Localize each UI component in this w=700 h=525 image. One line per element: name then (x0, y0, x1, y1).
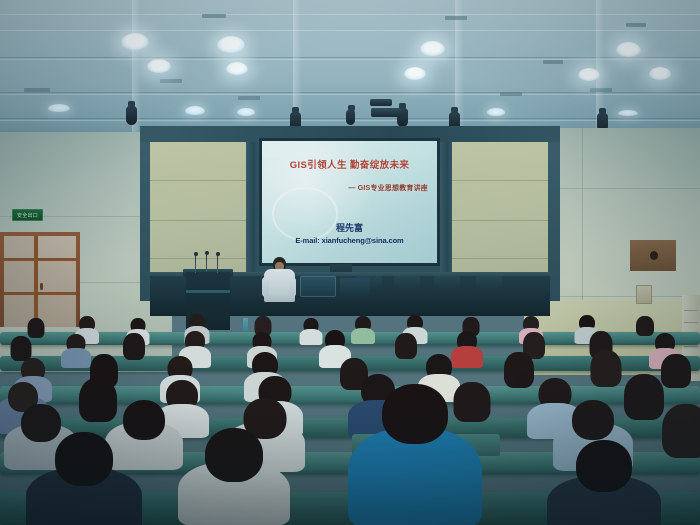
lighting-rig (370, 99, 392, 106)
audience-member (300, 318, 322, 340)
ceiling-light (404, 67, 426, 80)
ceiling-light (618, 110, 638, 116)
water-bottle (243, 318, 248, 332)
lectern-trim (186, 290, 230, 293)
door-right-leaf[interactable] (38, 236, 76, 327)
audience-member (120, 333, 148, 364)
ceiling-light (578, 68, 600, 81)
lighting-rig (371, 108, 401, 117)
ceiling-light (147, 59, 171, 73)
ceiling-light (226, 62, 248, 75)
stage-chair (434, 276, 460, 292)
door-handle[interactable] (40, 283, 43, 290)
front-wall-panel-left (150, 142, 246, 290)
audience-member (36, 432, 132, 525)
stage-chair (476, 276, 502, 292)
ceiling-light (420, 41, 445, 56)
front-wall-pillar-left (246, 138, 259, 290)
door-left-leaf[interactable] (4, 236, 34, 327)
microphone-icon (206, 254, 207, 272)
ceiling-light (217, 36, 245, 53)
microphone-icon (195, 255, 196, 273)
ceiling-light (48, 104, 70, 112)
ceiling-light (121, 33, 149, 50)
ceiling-light (185, 106, 205, 115)
ceiling-light (237, 108, 255, 116)
front-wall-panel-right (452, 142, 548, 290)
wall-switch-plate (636, 285, 652, 304)
exit-sign: 安全出口 (12, 209, 43, 221)
audience-member (656, 404, 700, 464)
slide-presenter-email: E-mail: xianfucheng@sina.com (262, 236, 437, 245)
audience-member (392, 333, 420, 364)
audience-member (188, 428, 280, 520)
exit-sign-label: 安全出口 (17, 212, 38, 219)
audience-member (556, 440, 652, 525)
stage-spotlight-icon (126, 106, 137, 125)
slide-subtitle: — GIS专业思想教育讲座 (348, 183, 428, 193)
speaker-arm-left (262, 277, 269, 297)
audience-member (360, 384, 470, 524)
stage-spotlight-icon (346, 110, 355, 125)
wall-speaker-icon (650, 251, 658, 260)
audience-member (352, 316, 374, 340)
ceiling-light (616, 42, 641, 57)
projection-screen: GIS引领人生 勤奋绽放未来 — GIS专业思想教育讲座 程先富 E-mail:… (262, 141, 437, 263)
ceiling-light (649, 67, 671, 80)
stage-chair (394, 276, 420, 292)
slide-title: GIS引领人生 勤奋绽放未来 (262, 157, 437, 171)
laptop-secondary (340, 278, 370, 296)
speaker-arm-right (289, 277, 296, 297)
laptop-primary (300, 276, 336, 297)
lecture-hall-photo: 安全出口 GIS引领人生 勤奋绽放未来 — GIS专业思想教育讲座 程先富 E-… (0, 0, 700, 525)
slide-presenter-name: 程先富 (262, 221, 437, 234)
ceiling (0, 0, 700, 142)
front-wall-pillar-right (440, 138, 452, 290)
speaker-presenter (262, 257, 296, 309)
microphone-icon (217, 255, 218, 273)
ceiling-light (487, 108, 505, 116)
